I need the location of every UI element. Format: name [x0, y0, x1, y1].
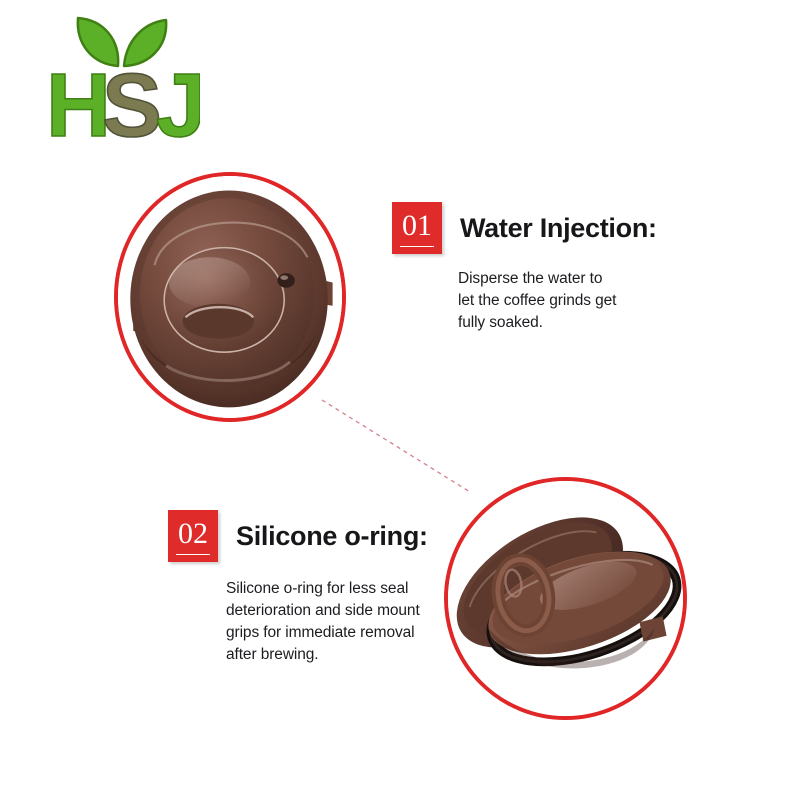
- body-line: deterioration and side mount: [226, 600, 498, 622]
- step-body-water-injection: Disperse the water to let the coffee gri…: [458, 268, 732, 334]
- step-number-badge-02: 02: [168, 510, 218, 562]
- step-heading-row: 02 Silicone o-ring:: [168, 510, 498, 562]
- body-line: let the coffee grinds get: [458, 290, 732, 312]
- body-line: fully soaked.: [458, 312, 732, 334]
- step-number-badge-01: 01: [392, 202, 442, 254]
- step-title-water-injection: Water Injection:: [460, 202, 657, 254]
- step-heading-row: 01 Water Injection:: [392, 202, 732, 254]
- step-block-silicone-oring: 02 Silicone o-ring: Silicone o-ring for …: [168, 510, 498, 666]
- step-number-text: 01: [402, 211, 432, 241]
- step-number-text: 02: [178, 519, 208, 549]
- hsj-logo-graphic: H S J: [40, 8, 200, 143]
- water-injection-hole: [277, 273, 294, 288]
- step-block-water-injection: 01 Water Injection: Disperse the water t…: [392, 202, 732, 334]
- step-body-silicone-oring: Silicone o-ring for less seal deteriorat…: [226, 578, 498, 666]
- body-line: grips for immediate removal: [226, 622, 498, 644]
- step-number-underline: [176, 554, 210, 555]
- step-title-silicone-oring: Silicone o-ring:: [236, 510, 428, 562]
- step-number-underline: [400, 246, 434, 247]
- brand-logo: H S J: [40, 8, 200, 143]
- logo-letter-j: J: [156, 56, 200, 143]
- body-line: after brewing.: [226, 644, 498, 666]
- dome-recess: [183, 304, 255, 339]
- water-injection-hole-glint: [280, 275, 288, 280]
- product-photo-water-injection: [114, 172, 346, 422]
- connector-line: [322, 400, 470, 492]
- body-line: Disperse the water to: [458, 268, 732, 290]
- body-line: Silicone o-ring for less seal: [226, 578, 498, 600]
- infographic-page: H S J: [0, 0, 800, 800]
- dome-gloss: [169, 257, 250, 307]
- lid-top-view-illustration: [118, 176, 342, 418]
- logo-letter-s: S: [102, 56, 162, 143]
